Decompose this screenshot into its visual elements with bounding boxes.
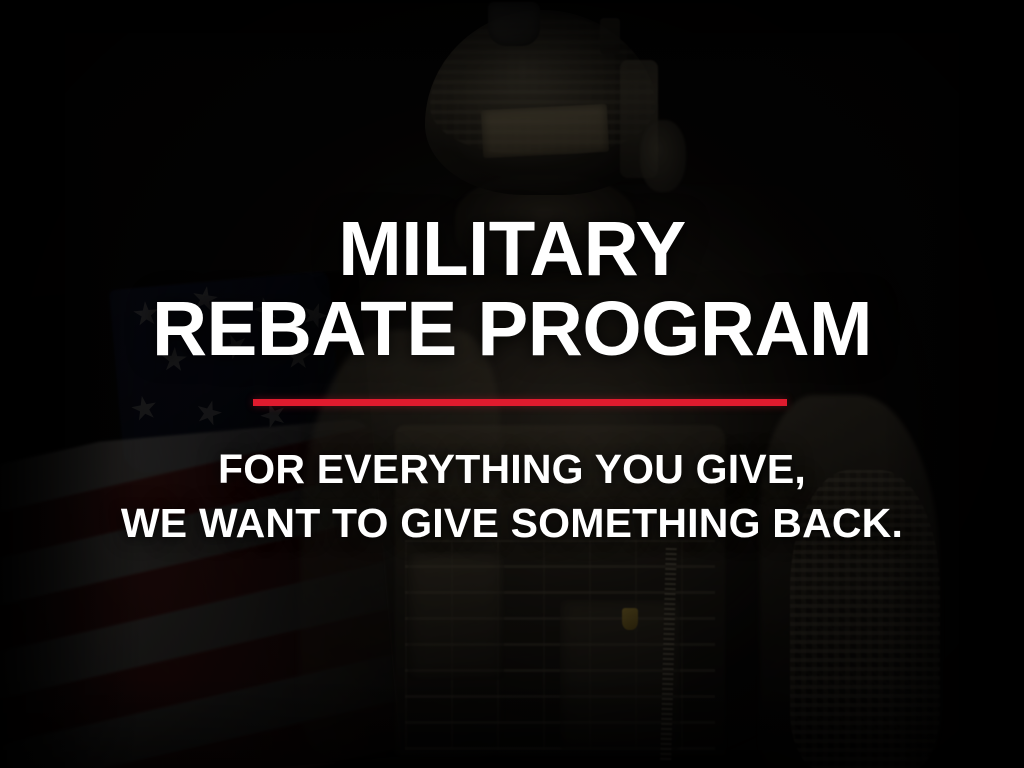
military-rebate-poster: MILITARY REBATE PROGRAM FOR EVERYTHING Y… [0, 0, 1024, 768]
headline-line-1: MILITARY [5, 214, 1019, 285]
subheadline-line-2: WE WANT TO GIVE SOMETHING BACK. [0, 500, 1024, 547]
text-overlay: MILITARY REBATE PROGRAM FOR EVERYTHING Y… [0, 0, 1024, 768]
subheadline-line-1: FOR EVERYTHING YOU GIVE, [0, 446, 1024, 493]
red-divider-rule [253, 399, 787, 406]
headline-line-2: REBATE PROGRAM [5, 294, 1019, 365]
